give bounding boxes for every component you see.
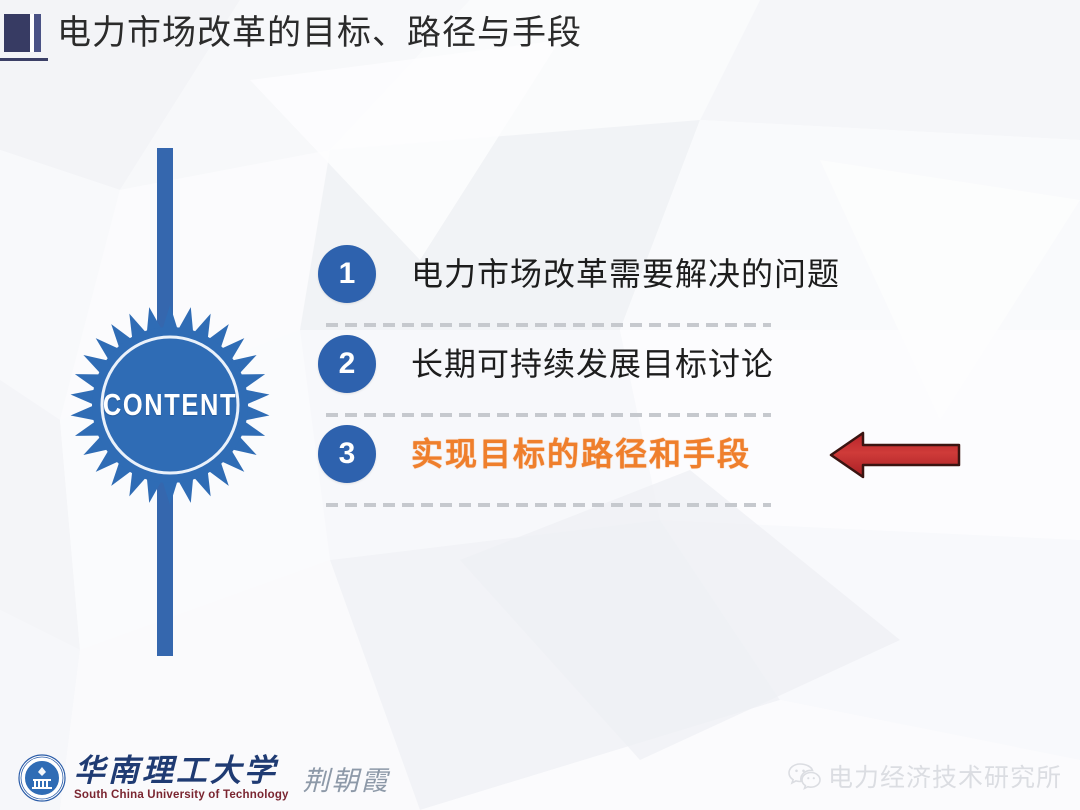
agenda-number-3: 3 <box>318 425 376 483</box>
agenda-list: 1 电力市场改革需要解决的问题 2 长期可持续发展目标讨论 3 实现目标的路径和… <box>318 243 778 513</box>
agenda-number-1: 1 <box>318 245 376 303</box>
author-signature: 荆朝霞 <box>303 759 390 798</box>
scut-seal-icon <box>18 754 66 802</box>
title-marker-square <box>4 14 34 52</box>
agenda-item-3[interactable]: 3 实现目标的路径和手段 <box>318 423 778 513</box>
sunburst-seal-icon <box>68 303 272 507</box>
slide-title-bar: 电力市场改革的目标、路径与手段 <box>0 0 1080 66</box>
wechat-icon <box>787 761 821 791</box>
content-seal-badge: CONTENT <box>68 303 272 507</box>
university-logo: 华南理工大学 South China University of Technol… <box>18 752 390 804</box>
university-name-block: 华南理工大学 South China University of Technol… <box>74 755 289 802</box>
wechat-watermark: 电力经济技术研究所 <box>787 756 1062 796</box>
agenda-item-2[interactable]: 2 长期可持续发展目标讨论 <box>318 333 778 423</box>
arrow-left-icon <box>829 427 961 483</box>
agenda-label-1: 电力市场改革需要解决的问题 <box>411 258 840 290</box>
page-title: 电力市场改革的目标、路径与手段 <box>57 16 582 50</box>
title-underline <box>0 58 48 61</box>
presentation-slide: 电力市场改革的目标、路径与手段 <box>0 0 1080 810</box>
university-name-cn: 华南理工大学 <box>74 755 289 788</box>
agenda-number-2: 2 <box>318 335 376 393</box>
agenda-separator-1 <box>326 323 771 327</box>
agenda-label-2: 长期可持续发展目标讨论 <box>411 348 774 380</box>
title-marker-bar <box>34 14 41 52</box>
wechat-watermark-text: 电力经济技术研究所 <box>828 758 1062 794</box>
agenda-label-3: 实现目标的路径和手段 <box>411 438 751 470</box>
agenda-item-1[interactable]: 1 电力市场改革需要解决的问题 <box>318 243 778 333</box>
university-name-en: South China University of Technology <box>74 789 289 801</box>
agenda-separator-2 <box>326 413 771 417</box>
agenda-separator-3 <box>326 503 771 507</box>
